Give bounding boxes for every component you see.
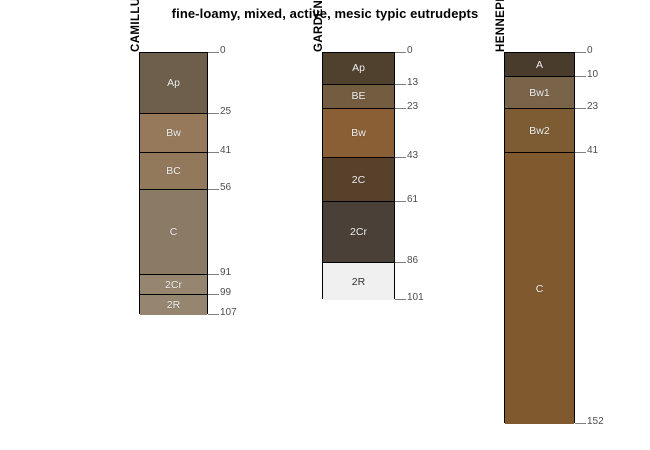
depth-tick-line — [575, 108, 586, 109]
depth-tick-label: 10 — [587, 69, 598, 80]
depth-tick-line — [575, 152, 586, 153]
depth-tick-line — [575, 76, 586, 77]
horizon-c: C — [505, 153, 574, 424]
profile-name-label: HENNEPIN — [495, 0, 507, 52]
profile-box: ABw1Bw2C — [504, 52, 575, 423]
horizon-label: C — [505, 283, 574, 295]
horizon-bw1: Bw1 — [505, 77, 574, 109]
depth-tick-label: 152 — [587, 416, 604, 427]
horizon-a: A — [505, 53, 574, 77]
profile-hennepin: HENNEPINABw1Bw2C0102341152 — [0, 0, 650, 450]
horizon-label: A — [505, 59, 574, 71]
depth-tick-label: 23 — [587, 101, 598, 112]
depth-tick-label: 41 — [587, 145, 598, 156]
depth-tick-line — [575, 52, 586, 53]
horizon-label: Bw2 — [505, 125, 574, 137]
soil-profile-chart: fine-loamy, mixed, active, mesic typic e… — [0, 0, 650, 450]
depth-tick-label: 0 — [587, 45, 593, 56]
horizon-label: Bw1 — [505, 87, 574, 99]
horizon-bw2: Bw2 — [505, 109, 574, 153]
depth-tick-line — [575, 423, 586, 424]
